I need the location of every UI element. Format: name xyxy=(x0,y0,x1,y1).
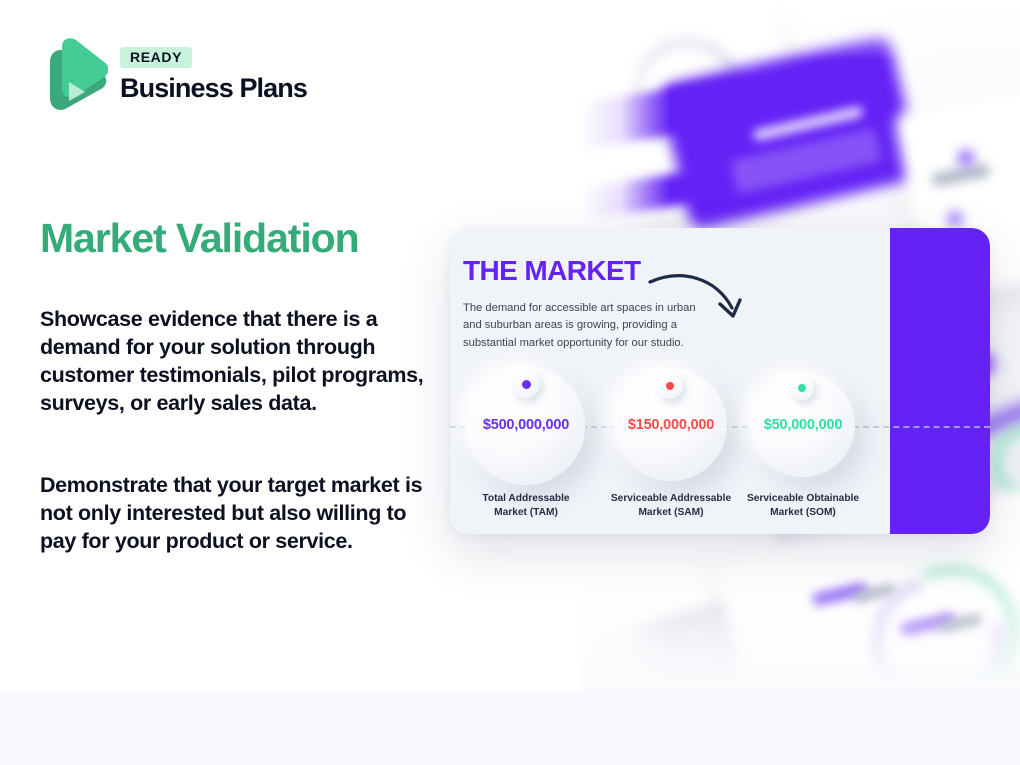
page-title: Market Validation xyxy=(40,216,359,262)
metric-knob-som xyxy=(790,376,814,400)
bg-dot-purple-2 xyxy=(948,212,962,226)
purple-dot-icon xyxy=(522,380,531,389)
metric-label-sam-line1: Serviceable Addressable xyxy=(611,493,731,504)
metric-amount-tam: $500,000,000 xyxy=(467,417,585,433)
metric-label-tam-line1: Total Addressable xyxy=(482,493,569,504)
bg-fade-bottom xyxy=(580,570,1020,690)
market-card: THE MARKET The demand for accessible art… xyxy=(450,228,990,534)
brand-lockup: READY Business Plans xyxy=(40,38,307,110)
metric-label-som-line2: Market (SOM) xyxy=(770,507,836,518)
body-paragraph-2: Demonstrate that your target market is n… xyxy=(40,472,425,556)
bg-dot-purple-1 xyxy=(958,150,974,166)
red-dot-icon xyxy=(666,382,675,391)
metric-amount-som: $50,000,000 xyxy=(748,417,858,433)
metric-label-tam: Total Addressable Market (TAM) xyxy=(456,492,596,520)
bottom-band xyxy=(0,690,1020,765)
metric-label-som: Serviceable Obtainable Market (SOM) xyxy=(730,492,876,520)
ready-badge: READY xyxy=(120,47,192,68)
play-triangle-logo-icon xyxy=(40,38,108,110)
metric-knob-sam xyxy=(657,373,683,399)
bg-fade-top xyxy=(580,0,1020,60)
metric-label-tam-line2: Market (TAM) xyxy=(494,507,558,518)
metric-label-sam: Serviceable Addressable Market (SAM) xyxy=(596,492,746,520)
metric-amount-sam: $150,000,000 xyxy=(611,417,731,433)
metric-label-som-line1: Serviceable Obtainable xyxy=(747,493,859,504)
brand-text: READY Business Plans xyxy=(120,47,307,102)
metric-label-sam-line2: Market (SAM) xyxy=(638,507,703,518)
body-paragraph-1: Showcase evidence that there is a demand… xyxy=(40,306,425,418)
market-metrics: $500,000,000 Total Addressable Market (T… xyxy=(450,228,990,534)
slide-root: READY Business Plans Market Validation S… xyxy=(0,0,1020,765)
green-dot-icon xyxy=(798,384,806,392)
brand-name: Business Plans xyxy=(120,75,307,102)
left-content-column: READY Business Plans Market Validation S… xyxy=(0,0,460,690)
metric-knob-tam xyxy=(512,370,540,398)
